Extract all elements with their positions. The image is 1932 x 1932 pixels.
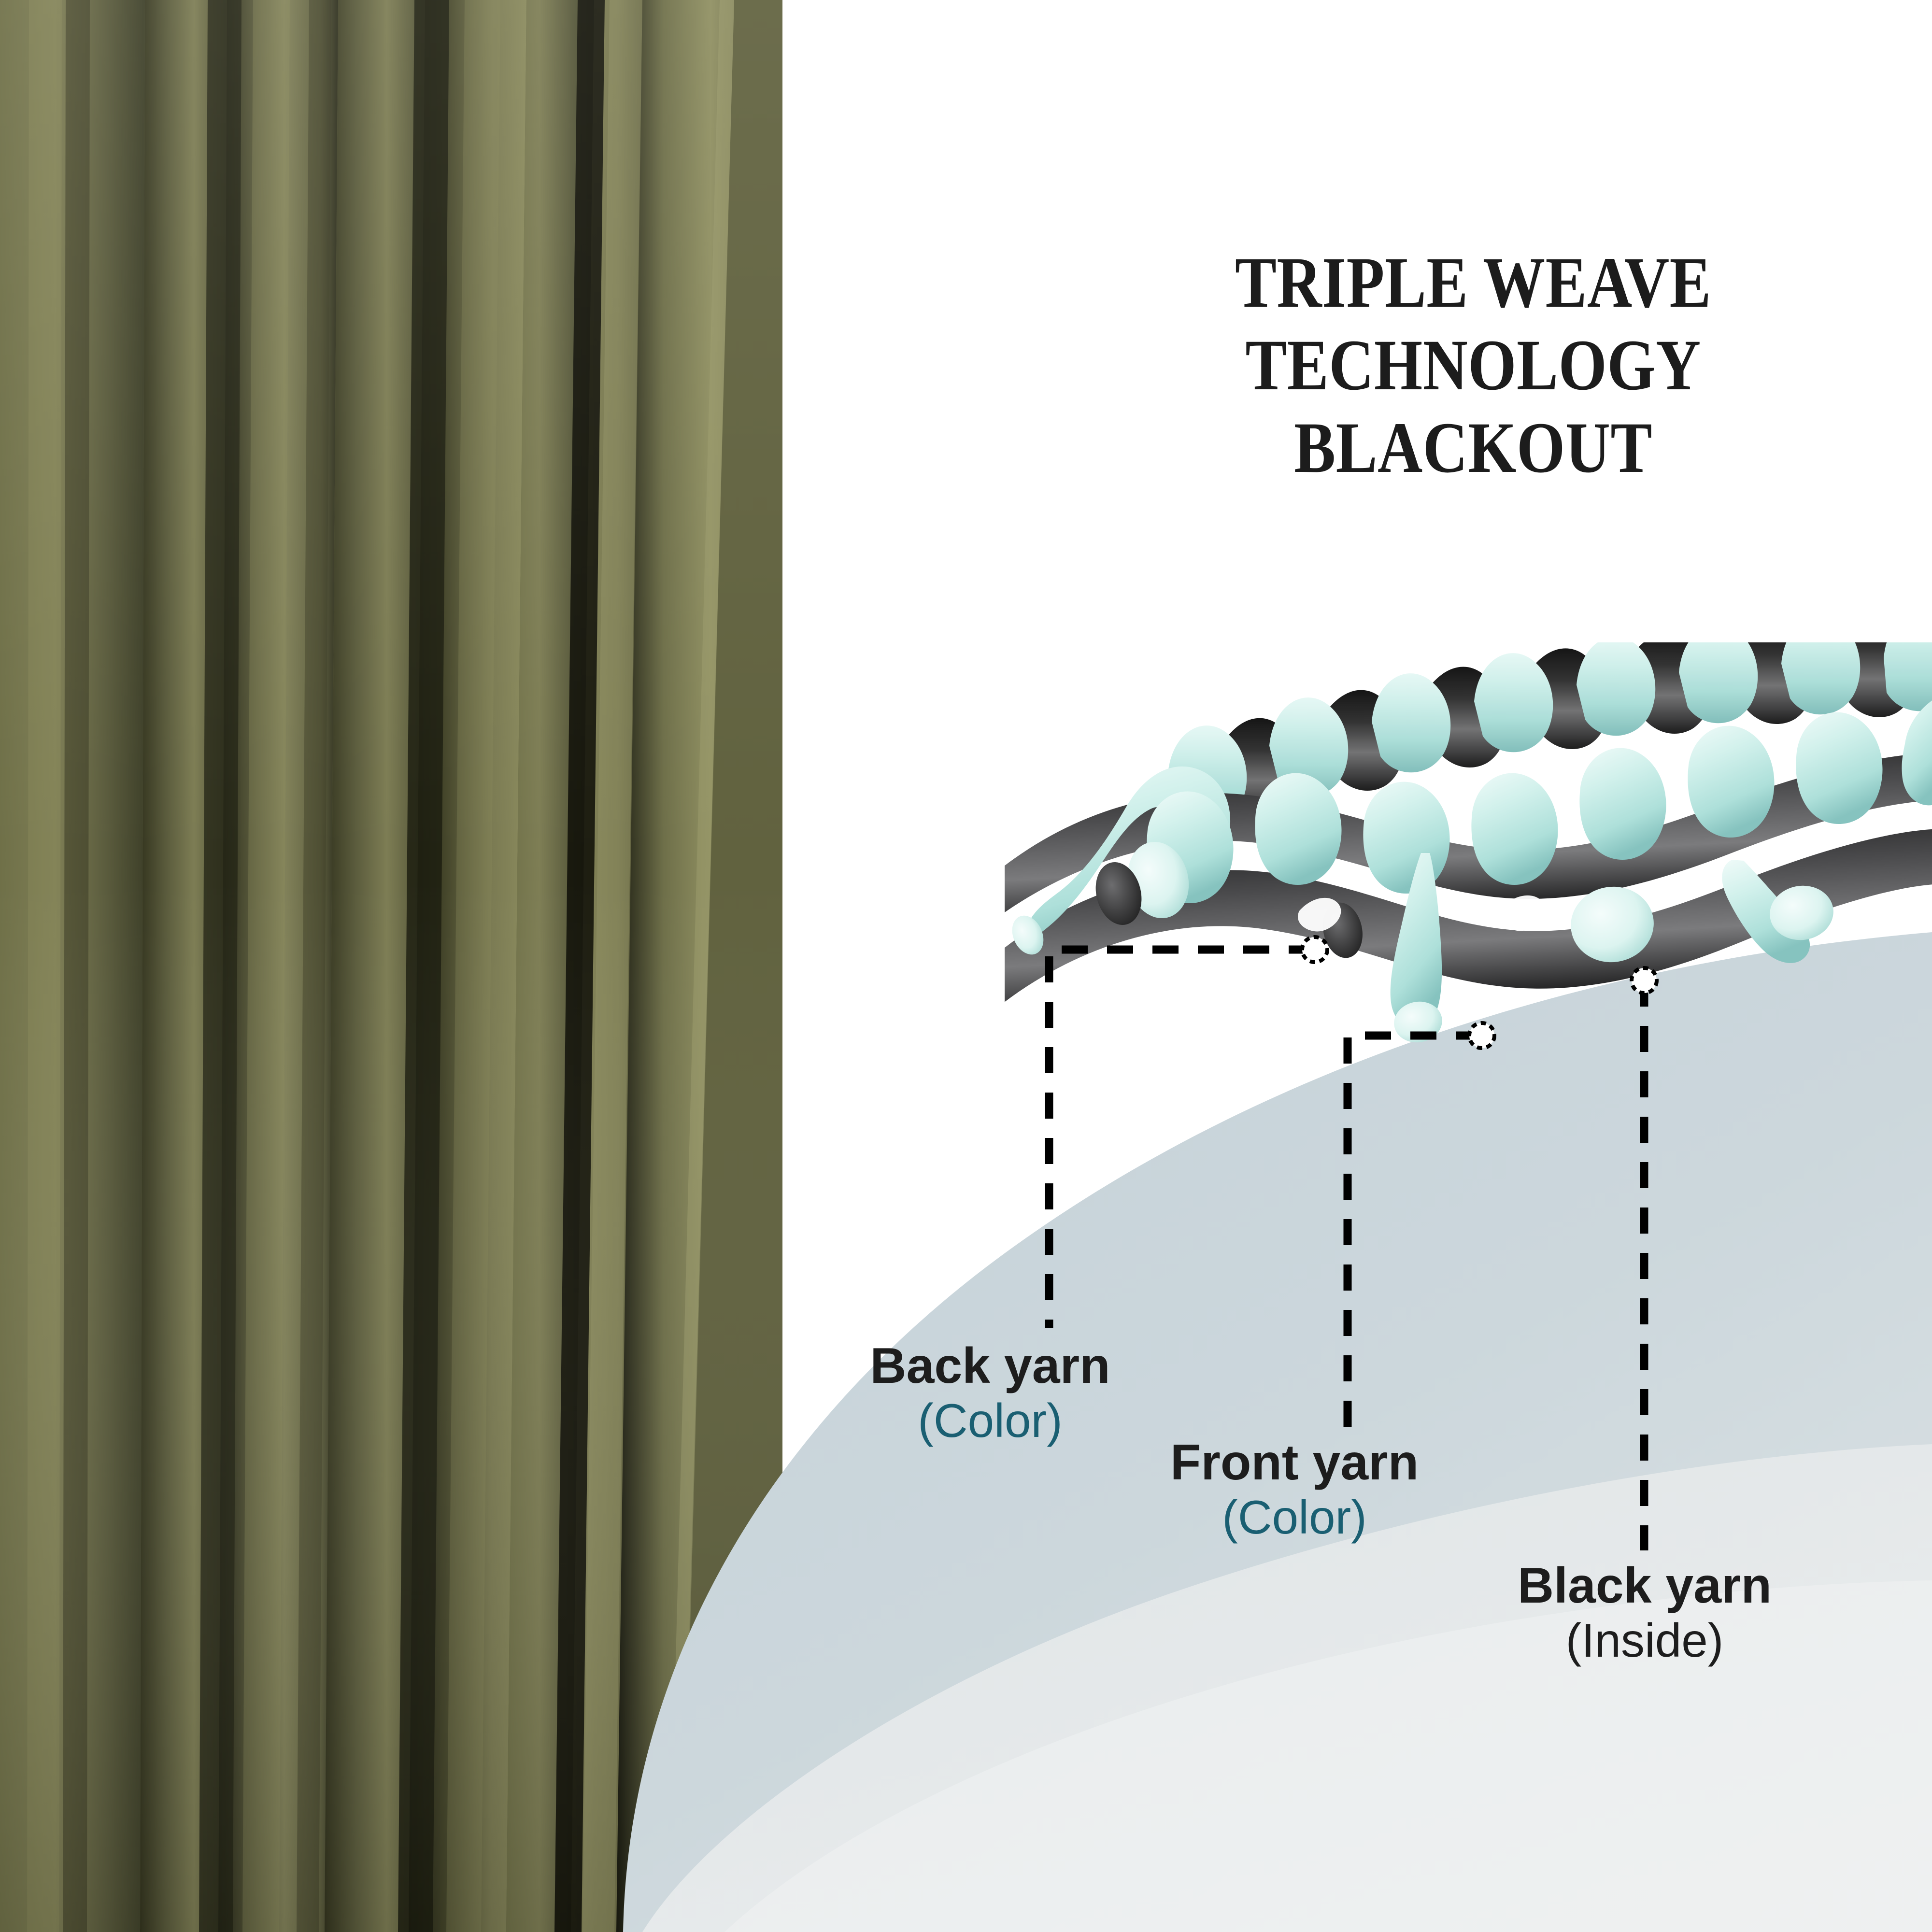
black-yarn-marker <box>1632 968 1657 993</box>
callout-back-yarn-title: Back yarn <box>773 1338 1207 1394</box>
leader-front-yarn <box>1348 1036 1482 1427</box>
front-yarn-marker <box>1469 1023 1494 1048</box>
callout-front-yarn-title: Front yarn <box>1077 1435 1512 1491</box>
callout-front-yarn-subtitle: (Color) <box>1077 1491 1512 1545</box>
leader-back-yarn <box>1049 950 1315 1328</box>
callout-back-yarn: Back yarn (Color) <box>773 1338 1207 1448</box>
back-yarn-marker <box>1302 937 1327 962</box>
callout-black-yarn: Black yarn (Inside) <box>1427 1558 1862 1668</box>
callout-black-yarn-title: Black yarn <box>1427 1558 1862 1614</box>
callout-front-yarn: Front yarn (Color) <box>1077 1435 1512 1545</box>
callout-black-yarn-subtitle: (Inside) <box>1427 1614 1862 1668</box>
infographic-canvas: TRIPLE WEAVE TECHNOLOGY BLACKOUT Back ya… <box>0 0 1932 1932</box>
